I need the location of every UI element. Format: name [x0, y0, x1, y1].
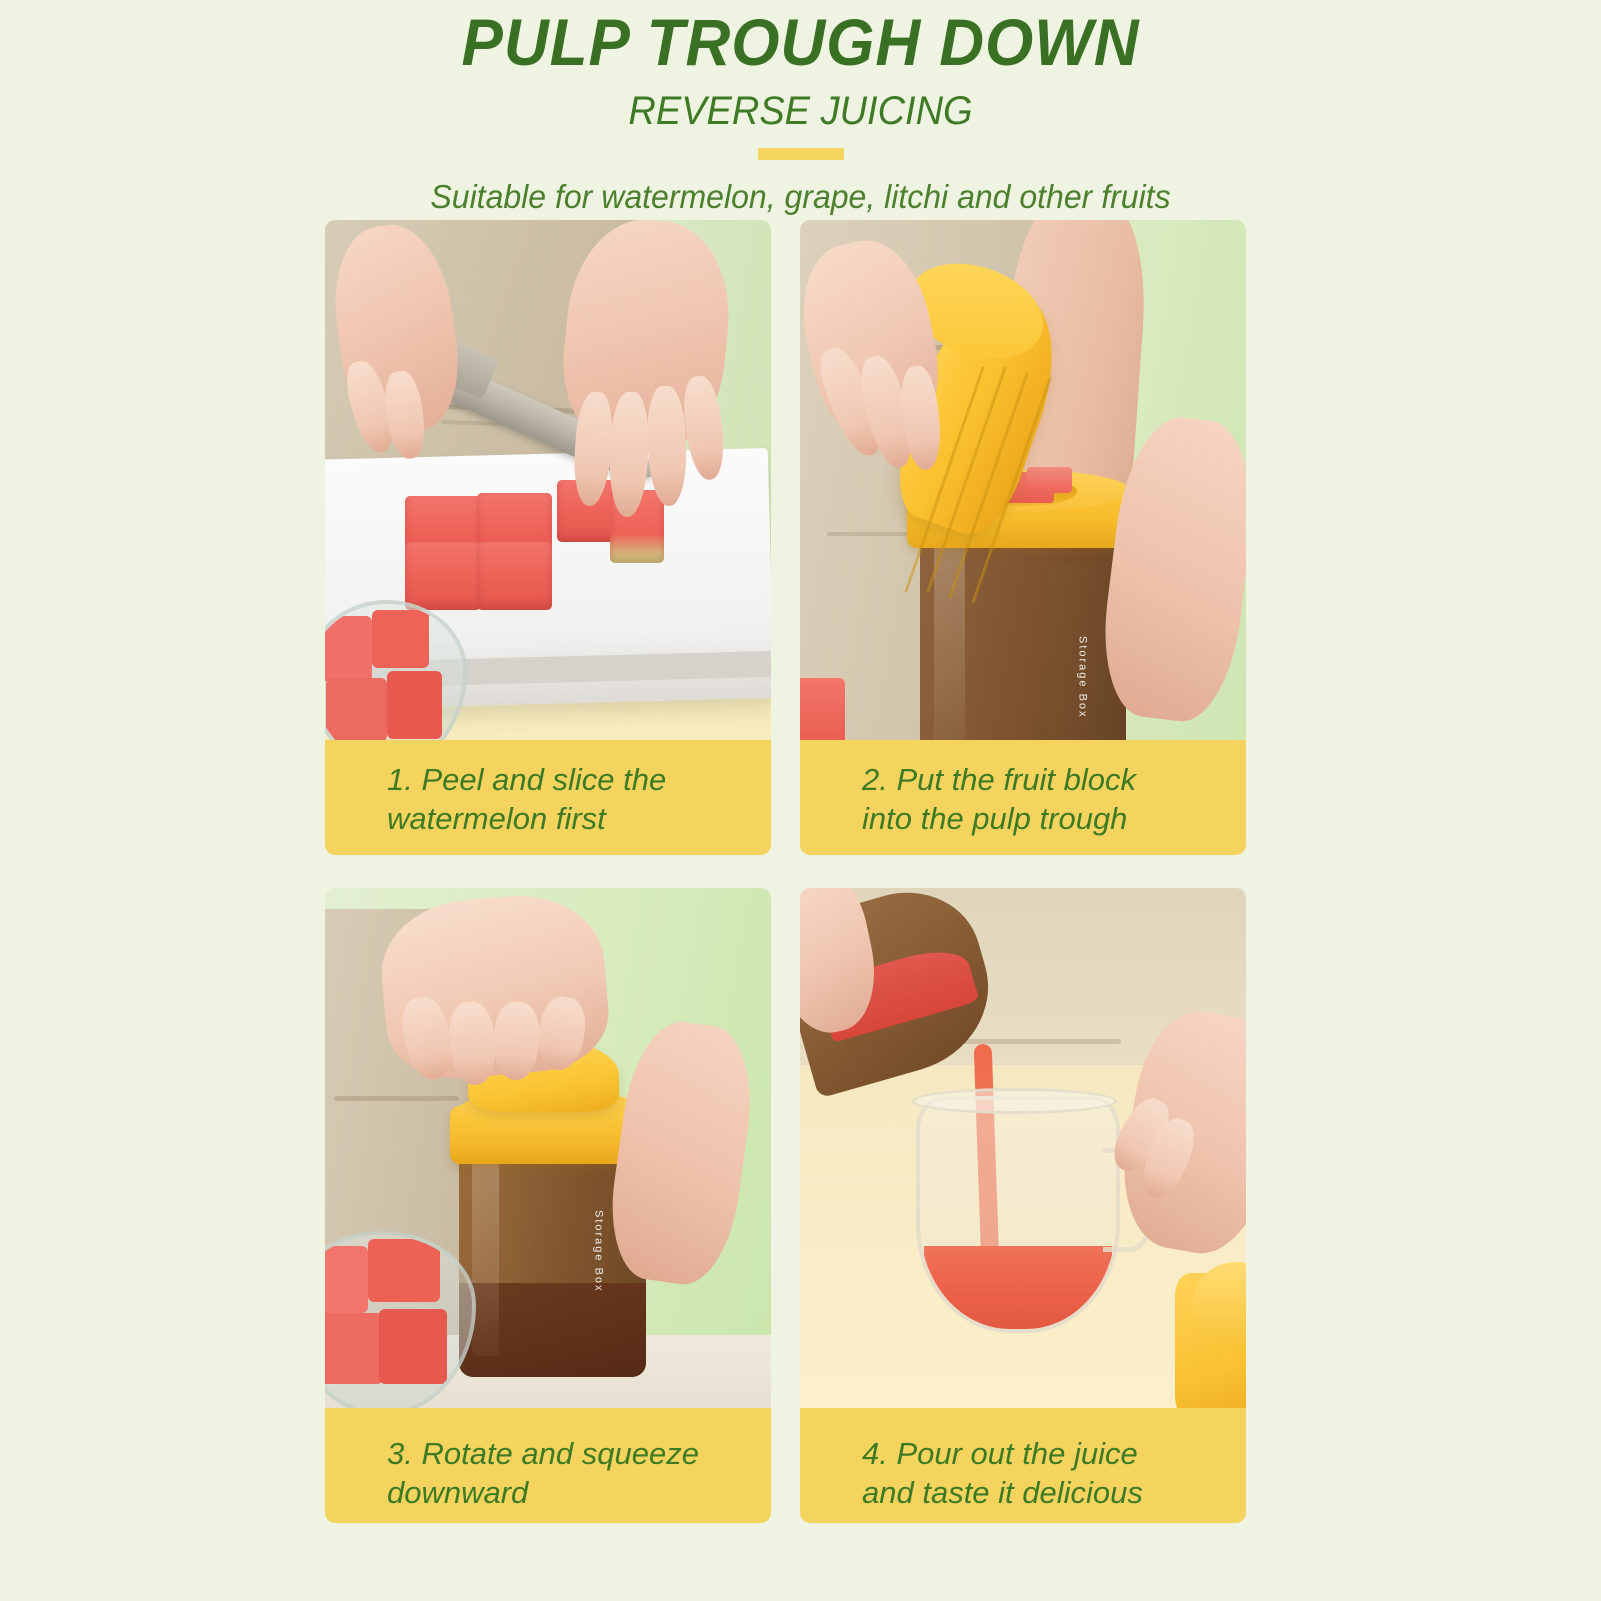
watermelon-cube — [405, 542, 481, 610]
page-title: PULP TROUGH DOWN — [48, 0, 1553, 77]
step-card-1: 1. Peel and slice the watermelon first — [325, 220, 771, 855]
jar-brand-label: Storage Box — [593, 1210, 605, 1293]
watermelon-piece — [325, 1246, 368, 1313]
step-photo-4 — [800, 888, 1246, 1408]
step-caption-2: 2. Put the fruit block into the pulp tro… — [800, 740, 1246, 855]
infographic-page: PULP TROUGH DOWN REVERSE JUICING Suitabl… — [0, 0, 1601, 1601]
divider-wrap — [0, 133, 1601, 165]
step-caption-4: 4. Pour out the juice and taste it delic… — [800, 1408, 1246, 1523]
glass-mug — [916, 1096, 1120, 1333]
apron-seam — [334, 1096, 459, 1101]
watermelon-piece — [325, 1313, 383, 1384]
step-card-2: Storage Box 2. Put the fruit blo — [800, 220, 1246, 855]
step-card-3: Storage Box 3. Rotate and squeeze downwa… — [325, 888, 771, 1523]
watermelon-cube — [477, 542, 553, 610]
step-caption-3: 3. Rotate and squeeze downward — [325, 1408, 771, 1523]
watermelon-piece — [387, 671, 442, 739]
watermelon-chunk — [1027, 467, 1072, 493]
juice-in-mug — [924, 1246, 1112, 1328]
watermelon-piece — [379, 1309, 447, 1383]
step-photo-3: Storage Box — [325, 888, 771, 1408]
step-card-4: 4. Pour out the juice and taste it delic… — [800, 888, 1246, 1523]
mug-rim — [912, 1088, 1117, 1114]
steps-grid: 1. Peel and slice the watermelon first S… — [325, 220, 1271, 1580]
jar-brand-label: Storage Box — [1077, 636, 1089, 719]
step-photo-2: Storage Box — [800, 220, 1246, 740]
watermelon-piece — [800, 678, 845, 740]
yellow-divider-bar — [758, 148, 844, 160]
jar-highlight — [472, 1158, 499, 1356]
watermelon-piece — [372, 610, 430, 668]
header: PULP TROUGH DOWN REVERSE JUICING Suitabl… — [0, 0, 1601, 216]
watermelon-piece — [326, 678, 387, 740]
page-subtitle: REVERSE JUICING — [40, 77, 1561, 133]
watermelon-piece — [368, 1239, 439, 1303]
watermelon-piece — [325, 616, 372, 680]
page-tagline: Suitable for watermelon, grape, litchi a… — [24, 165, 1577, 215]
step-caption-1: 1. Peel and slice the watermelon first — [325, 740, 771, 855]
step-photo-1 — [325, 220, 771, 740]
